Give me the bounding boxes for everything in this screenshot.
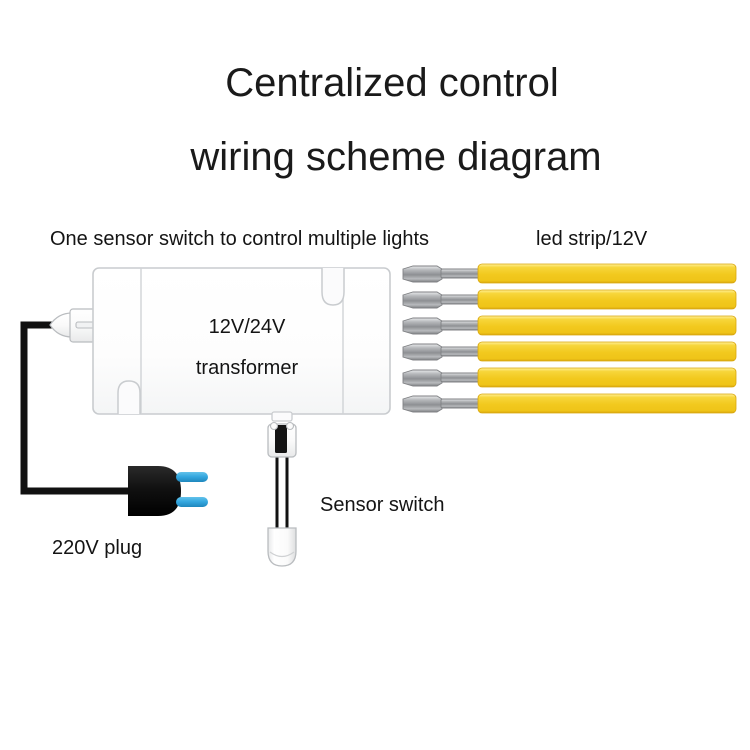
label-220v-plug: 220V plug: [52, 537, 142, 559]
led-strip-6: [403, 394, 736, 413]
led-strip-body-2: [478, 290, 736, 309]
sensor-connector-clip-right: [287, 423, 294, 430]
led-connector-ferrule-6: [403, 396, 442, 412]
page-title-line-2: wiring scheme diagram: [189, 135, 601, 179]
led-connector-2: [403, 292, 483, 308]
wiring-diagram: Centralized control wiring scheme diagra…: [0, 0, 750, 750]
led-connector-shank-6: [441, 399, 483, 408]
transformer-mount-tab-bottom: [118, 381, 140, 414]
transformer-sensor-port: [272, 412, 292, 421]
led-connector-shank-3: [441, 321, 483, 330]
led-connector-shank-5: [441, 373, 483, 382]
sensor-switch: [268, 423, 296, 567]
transformer-mount-tab-top: [322, 268, 344, 305]
sensor-capsule-body: [268, 528, 296, 566]
led-strip-body-5: [478, 368, 736, 387]
led-strip-5: [403, 368, 736, 387]
led-strip-4: [403, 342, 736, 361]
diagram-page: Centralized control wiring scheme diagra…: [0, 0, 750, 750]
led-strip-body-3: [478, 316, 736, 335]
plug-prong-1: [176, 472, 208, 482]
led-connector-1: [403, 266, 483, 282]
page-title-line-1: Centralized control: [225, 61, 559, 105]
led-connector-4: [403, 344, 483, 360]
led-strip-body-1: [478, 264, 736, 283]
led-connector-ferrule-3: [403, 318, 442, 334]
led-strip-body-6: [478, 394, 736, 413]
sensor-connector-pin-block: [275, 425, 287, 453]
220v-plug: [128, 466, 208, 516]
led-connector-ferrule-2: [403, 292, 442, 308]
led-strip-2: [403, 290, 736, 309]
led-strip-body-4: [478, 342, 736, 361]
led-connector-ferrule-1: [403, 266, 442, 282]
led-connector-shank-4: [441, 347, 483, 356]
led-strip-3: [403, 316, 736, 335]
led-connector-5: [403, 370, 483, 386]
barrel-connector-tip: [50, 313, 72, 337]
led-strip-1: [403, 264, 736, 283]
label-led-strip: led strip/12V: [536, 228, 648, 250]
led-connector-ferrule-5: [403, 370, 442, 386]
led-connector-3: [403, 318, 483, 334]
label-sensor-note: One sensor switch to control multiple li…: [50, 228, 429, 250]
plug-body: [128, 466, 181, 516]
transformer-unit: 12V/24V transformer: [93, 268, 390, 421]
label-sensor-switch: Sensor switch: [320, 494, 445, 516]
transformer-label-line-1: 12V/24V: [209, 316, 286, 338]
plug-prong-2: [176, 497, 208, 507]
led-connector-shank-2: [441, 295, 483, 304]
transformer-label-line-2: transformer: [196, 357, 299, 379]
led-connector-6: [403, 396, 483, 412]
sensor-connector-clip-left: [271, 423, 278, 430]
led-connector-ferrule-4: [403, 344, 442, 360]
led-connector-shank-1: [441, 269, 483, 278]
